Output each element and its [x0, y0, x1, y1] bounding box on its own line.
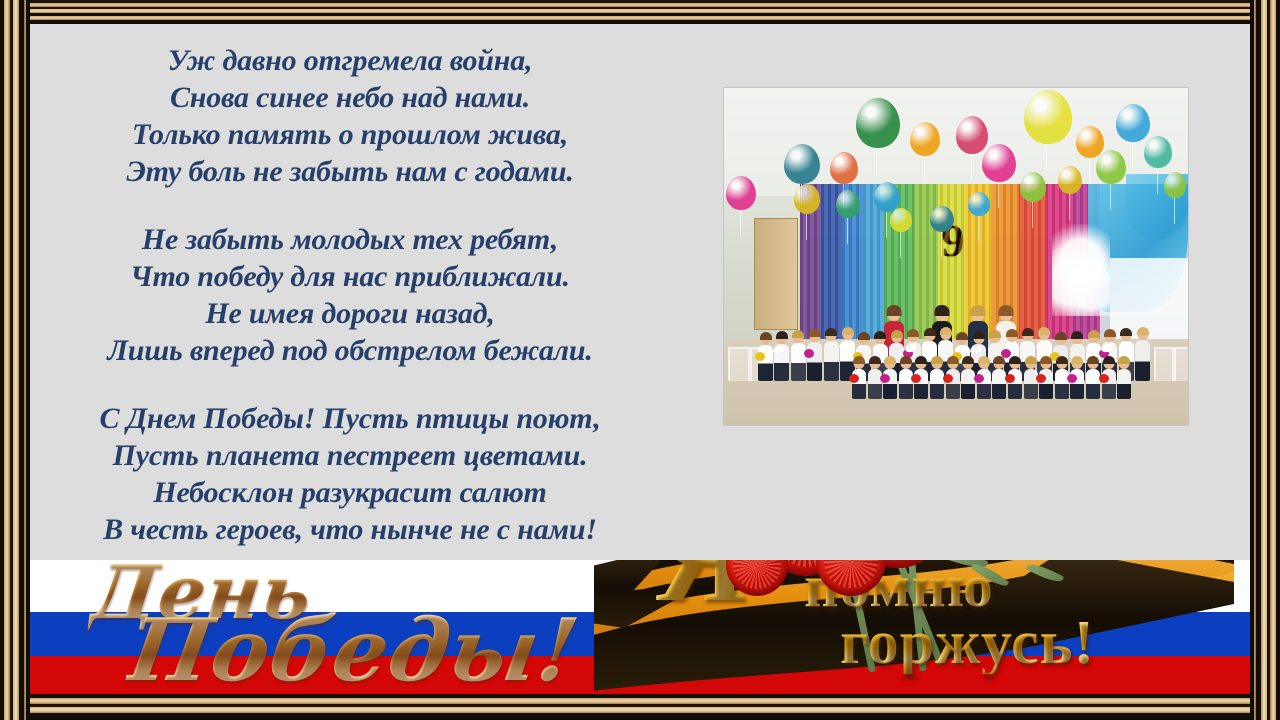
- poem-line: Лишь вперед под обстрелом бежали.: [40, 332, 660, 369]
- photo-balloon: [784, 144, 820, 184]
- photo-bouquet: [943, 374, 953, 383]
- poem-line: В честь героев, что нынче не с нами!: [40, 511, 660, 548]
- bottom-banner: Я помню горжусь! День Победы!: [26, 560, 1254, 696]
- photo-child: [824, 341, 839, 381]
- photo-bouquet: [755, 352, 765, 361]
- photo-bouquet: [974, 374, 984, 383]
- photo-child: [807, 342, 822, 381]
- photo-balloon: [830, 152, 858, 184]
- photo-balloon: [726, 176, 756, 210]
- poem-line: Что победу для нас приближали.: [40, 258, 660, 295]
- photo-balloon: [1024, 90, 1072, 144]
- photo-balloon: [1020, 172, 1046, 202]
- poem-line: Снова синее небо над нами.: [40, 79, 660, 116]
- frame-bottom-edge: [0, 694, 1280, 720]
- poem-line: Уж давно отгремела война,: [40, 42, 660, 79]
- photo-balloon: [1096, 150, 1126, 184]
- photo-balloon: [794, 184, 820, 214]
- photo-child: [1055, 369, 1069, 399]
- poem-line: Пусть планета пестреет цветами.: [40, 437, 660, 474]
- photo-balloon: [968, 192, 990, 216]
- card-canvas: Уж давно отгремела война, Снова синее не…: [26, 20, 1254, 696]
- photo-child: [868, 369, 882, 399]
- photo-child: [899, 369, 913, 399]
- photo-balloon: [1116, 104, 1150, 142]
- frame-right-edge: [1250, 0, 1280, 720]
- photo-bouquet: [1099, 374, 1109, 383]
- photo-balloon: [836, 190, 860, 218]
- photo-child: [1135, 340, 1150, 381]
- photo-bouquet: [1005, 374, 1015, 383]
- photo-balloon: [910, 122, 940, 156]
- photo-chair: [1172, 347, 1188, 381]
- poem-stanza-3: С Днем Победы! Пусть птицы поют, Пусть п…: [40, 400, 660, 548]
- photo-balloon: [890, 208, 912, 232]
- poem-stanza-1: Уж давно отгремела война, Снова синее не…: [40, 42, 660, 190]
- poem-line: Небосклон разукрасит салют: [40, 474, 660, 511]
- photo-child: [1117, 369, 1131, 399]
- photo-child: [1024, 369, 1038, 399]
- photo-balloon: [956, 116, 988, 154]
- photo-balloon: [982, 144, 1016, 182]
- photo-child: [992, 369, 1006, 399]
- photo-child: [1086, 369, 1100, 399]
- poem-line: Только память о прошлом жива,: [40, 116, 660, 153]
- photo-bouquet: [849, 374, 859, 383]
- poem-line: С Днем Победы! Пусть птицы поют,: [40, 400, 660, 437]
- photo-balloon: [930, 206, 954, 232]
- poem-line: Не забыть молодых тех ребят,: [40, 221, 660, 258]
- poem-line: Эту боль не забыть нам с годами.: [40, 153, 660, 190]
- photo-balloon: [856, 98, 900, 148]
- group-photo: 9: [724, 88, 1188, 425]
- victory-day-greeting-card: Уж давно отгремела война, Снова синее не…: [0, 0, 1280, 720]
- poem-line: Не имея дороги назад,: [40, 295, 660, 332]
- photo-child: [930, 369, 944, 399]
- photo-blossom-tree: [1052, 224, 1110, 316]
- photo-balloon: [874, 182, 900, 212]
- photo-chair: [728, 347, 750, 381]
- photo-balloon: [1076, 126, 1104, 158]
- poem-text: Уж давно отгремела война, Снова синее не…: [40, 42, 660, 579]
- photo-child: [758, 345, 773, 381]
- photo-child: [961, 369, 975, 399]
- photo-child: [791, 343, 806, 381]
- photo-door: [754, 218, 798, 330]
- poem-stanza-2: Не забыть молодых тех ребят, Что победу …: [40, 221, 660, 369]
- photo-balloon: [1058, 166, 1082, 194]
- photo-balloon: [1144, 136, 1172, 168]
- photo-balloon: [1164, 172, 1186, 198]
